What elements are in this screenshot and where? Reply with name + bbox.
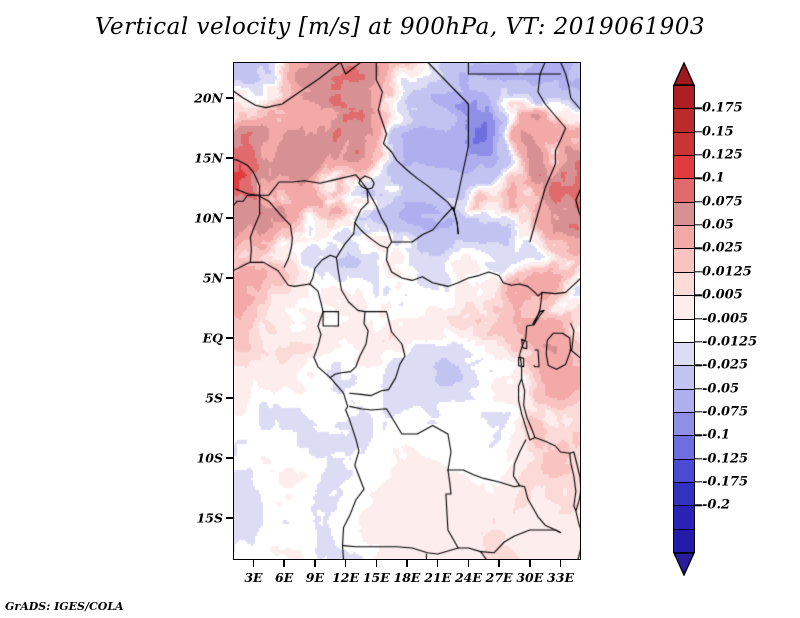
colorbar-tick [695,131,702,132]
colorbar-band [673,202,695,227]
longitude-tick [498,560,500,567]
colorbar-label: 0.005 [702,288,743,303]
colorbar-tick [695,388,702,389]
colorbar-label: -0.025 [702,358,748,373]
colorbar-label: -0.05 [702,381,739,396]
colorbar-label: 0.125 [702,148,743,163]
colorbar-band [673,178,695,203]
colorbar-band [673,342,695,367]
colorbar-top-arrow [673,62,695,86]
latitude-tick [226,337,233,339]
longitude-tick [468,560,470,567]
colorbar-tick [695,248,702,249]
colorbar-tick [695,341,702,342]
colorbar-band [673,85,695,110]
colorbar-tick [695,411,702,412]
longitude-tick [345,560,347,567]
latitude-tick [226,217,233,219]
colorbar-label: -0.075 [702,404,748,419]
map-panel [233,62,581,560]
colorbar-band [673,108,695,133]
longitude-tick [437,560,439,567]
colorbar-band [673,505,695,530]
longitude-tick [376,560,378,567]
vertical-velocity-field [233,62,581,560]
colorbar-tick [695,481,702,482]
latitude-label: 15N [175,151,223,166]
colorbar-band [673,319,695,344]
colorbar-bottom-arrow [673,552,695,576]
colorbar-tick [695,458,702,459]
longitude-tick [314,560,316,567]
longitude-label: 33E [541,570,581,585]
colorbar-band [673,132,695,157]
latitude-tick [226,277,233,279]
colorbar-band [673,295,695,320]
longitude-tick [283,560,285,567]
colorbar-band [673,389,695,414]
colorbar-label: 0.0125 [702,264,752,279]
colorbar-tick [695,178,702,179]
colorbar-band [673,225,695,250]
colorbar-band [673,155,695,180]
latitude-tick [226,97,233,99]
longitude-tick [406,560,408,567]
colorbar-tick [695,224,702,225]
colorbar-tick [695,108,702,109]
longitude-tick [253,560,255,567]
colorbar-label: -0.005 [702,311,748,326]
grads-credit: GrADS: IGES/COLA [5,600,124,613]
colorbar: 0.1750.150.1250.10.0750.050.0250.01250.0… [668,58,800,558]
colorbar-band [673,435,695,460]
colorbar-label: -0.125 [702,451,748,466]
latitude-label: 10N [175,211,223,226]
colorbar-label: 0.1 [702,171,725,186]
colorbar-tick [695,318,702,319]
colorbar-band [673,272,695,297]
colorbar-label: 0.05 [702,218,734,233]
colorbar-tick [695,271,702,272]
colorbar-tick [695,364,702,365]
colorbar-label: -0.1 [702,428,730,443]
colorbar-tick [695,154,702,155]
latitude-tick [226,397,233,399]
longitude-tick [560,560,562,567]
latitude-label: 15S [175,511,223,526]
latitude-label: 5S [175,391,223,406]
colorbar-label: 0.15 [702,124,734,139]
colorbar-band [673,529,695,554]
colorbar-label: 0.075 [702,194,743,209]
latitude-tick [226,157,233,159]
colorbar-tick [695,201,702,202]
colorbar-band [673,365,695,390]
latitude-label: 5N [175,271,223,286]
colorbar-tick [695,294,702,295]
colorbar-label: -0.0125 [702,334,757,349]
colorbar-tick [695,505,702,506]
colorbar-band [673,412,695,437]
longitude-tick [529,560,531,567]
colorbar-label: 0.175 [702,101,743,116]
page-title: Vertical velocity [m/s] at 900hPa, VT: 2… [0,14,800,40]
latitude-label: 20N [175,91,223,106]
grads-plot-page: Vertical velocity [m/s] at 900hPa, VT: 2… [0,0,800,618]
colorbar-band [673,482,695,507]
colorbar-label: 0.025 [702,241,743,256]
latitude-tick [226,517,233,519]
latitude-tick [226,457,233,459]
colorbar-band [673,459,695,484]
latitude-label: EQ [175,331,223,346]
colorbar-band [673,248,695,273]
colorbar-label: -0.2 [702,498,730,513]
colorbar-tick [695,435,702,436]
colorbar-label: -0.175 [702,474,748,489]
latitude-label: 10S [175,451,223,466]
